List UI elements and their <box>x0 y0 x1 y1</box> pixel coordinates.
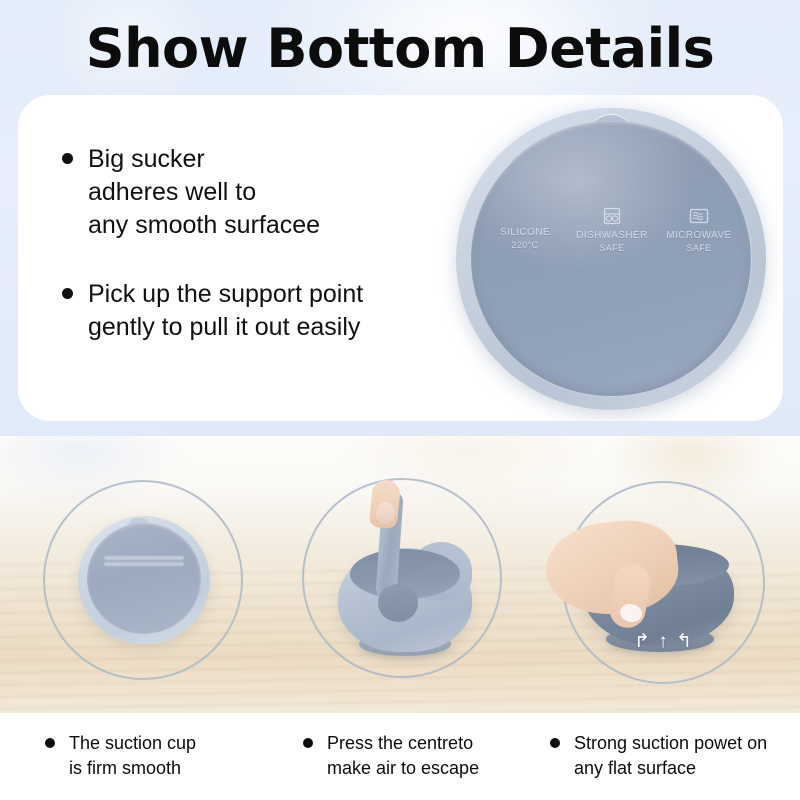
bullet-dot-icon <box>62 288 73 299</box>
detail-card: Big sucker adheres well to any smooth su… <box>18 95 783 421</box>
marking-dishwasher: DISHWASHER SAFE <box>571 204 653 255</box>
arrow-up-icon: ↑ <box>658 632 668 651</box>
bullet-dot-icon <box>550 738 560 748</box>
marking-microwave-line1: MICROWAVE <box>666 229 731 242</box>
feature-bullet-1-text: Big sucker adheres well to any smooth su… <box>88 143 438 242</box>
arrow-left-icon: ↱ <box>634 632 650 651</box>
caption-2-text: Press the centreto make air to escape <box>327 731 479 781</box>
caption-3-text: Strong suction powet on any flat surface <box>574 731 767 781</box>
photo-bowl-bottom-on-table <box>0 436 267 713</box>
photo-strip: ↱ ↑ ↰ <box>0 436 800 713</box>
caption-1-text: The suction cup is firm smooth <box>69 731 196 781</box>
microwave-icon <box>688 204 710 226</box>
feature-bullet-list: Big sucker adheres well to any smooth su… <box>58 143 438 380</box>
arrow-right-icon: ↰ <box>676 632 692 651</box>
marking-silicone-line1: SILICONE <box>500 226 550 239</box>
page-title: Show Bottom Details <box>0 15 800 83</box>
marking-silicone: SILICONE 220°C <box>484 204 566 252</box>
dishwasher-icon <box>602 204 622 226</box>
suction-direction-arrows: ↱ ↑ ↰ <box>634 629 692 653</box>
marking-silicone-line2: 220°C <box>511 239 538 252</box>
suction-disc-markings <box>96 554 192 580</box>
marking-dishwasher-line2: SAFE <box>599 242 624 255</box>
bullet-dot-icon <box>62 153 73 164</box>
feature-bullet-1: Big sucker adheres well to any smooth su… <box>58 143 438 242</box>
marking-dishwasher-line1: DISHWASHER <box>576 229 647 242</box>
marking-microwave-line2: SAFE <box>686 242 711 255</box>
feature-bullet-2-text: Pick up the support point gently to pull… <box>88 278 438 344</box>
photo-finger-pressing-centre <box>267 436 534 713</box>
caption-3: Strong suction powet on any flat surface <box>550 731 767 781</box>
bowl-embossed-markings: SILICONE 220°C DISHWASHER SAFE <box>484 204 740 276</box>
bullet-dot-icon <box>303 738 313 748</box>
caption-2: Press the centreto make air to escape <box>303 731 479 781</box>
feature-bullet-2: Pick up the support point gently to pull… <box>58 278 438 344</box>
photo-hand-lifting-bowl: ↱ ↑ ↰ <box>534 436 800 713</box>
marking-microwave: MICROWAVE SAFE <box>658 204 740 255</box>
hero-bowl-bottom-photo: SILICONE 220°C DISHWASHER SAFE <box>456 108 766 410</box>
caption-1: The suction cup is firm smooth <box>45 731 196 781</box>
bullet-dot-icon <box>45 738 55 748</box>
caption-row: The suction cup is firm smooth Press the… <box>0 713 800 800</box>
spoon-scoop <box>378 584 418 622</box>
top-section: Show Bottom Details Big sucker adheres w… <box>0 0 800 436</box>
